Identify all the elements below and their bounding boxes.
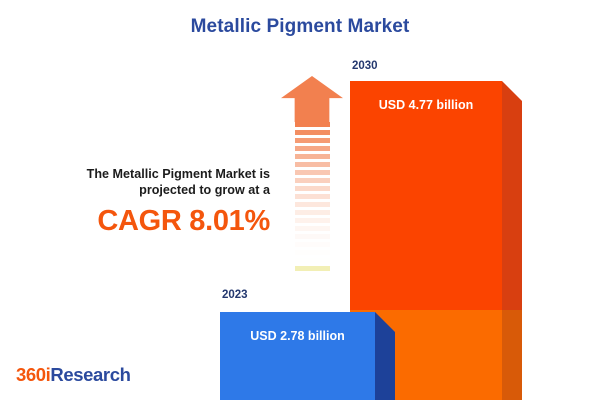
infographic-canvas: Metallic Pigment Market 2030 USD 4.77 bi… (0, 0, 600, 400)
growth-arrow (281, 76, 343, 296)
cagr-statement: The Metallic Pigment Market is projected… (38, 166, 270, 238)
arrow-stripe (295, 266, 330, 271)
page-title: Metallic Pigment Market (0, 16, 600, 38)
arrow-stripe (295, 226, 330, 231)
arrow-stripe (295, 138, 330, 143)
arrow-stripe (295, 130, 330, 135)
cagr-value: CAGR 8.01% (38, 205, 270, 238)
arrow-stripe (295, 282, 330, 287)
bar-value-base-year: USD 2.78 billion (220, 329, 375, 343)
bar-label-2023: 2023 (222, 289, 248, 301)
arrow-stripe (295, 186, 330, 191)
arrow-stripe (295, 258, 330, 263)
arrow-stripe (295, 290, 330, 295)
bar-value-forecast-year: USD 4.77 billion (350, 98, 502, 112)
bar-base-side-face (375, 332, 395, 400)
bar-base-year: USD 2.78 billion (220, 312, 395, 400)
arrow-stripe (295, 178, 330, 183)
arrow-stripe (295, 194, 330, 199)
arrow-stripe (295, 242, 330, 247)
arrow-head-icon (281, 76, 343, 122)
bar-forecast-side-lower-face (502, 310, 522, 400)
arrow-stripe (295, 170, 330, 175)
statement-line-2: projected to grow at a (38, 182, 270, 198)
logo-word-text: Research (50, 364, 130, 385)
arrow-stripe (295, 154, 330, 159)
arrow-stripe (295, 210, 330, 215)
brand-logo: 360iResearch (16, 364, 131, 386)
arrow-stripe (295, 274, 330, 279)
arrow-stripe (295, 218, 330, 223)
bar-base-front-face (220, 312, 375, 400)
arrow-stripe (295, 234, 330, 239)
arrow-stripe (295, 250, 330, 255)
logo-mark-text: 360i (16, 364, 50, 385)
bar-forecast-top-bevel (502, 81, 522, 101)
arrow-stripe (295, 122, 330, 127)
bar-base-top-bevel (375, 312, 395, 332)
arrow-stripe (295, 202, 330, 207)
arrow-stripe (295, 146, 330, 151)
statement-line-1: The Metallic Pigment Market is (38, 166, 270, 182)
arrow-stripe (295, 162, 330, 167)
bar-label-2030: 2030 (352, 60, 378, 72)
